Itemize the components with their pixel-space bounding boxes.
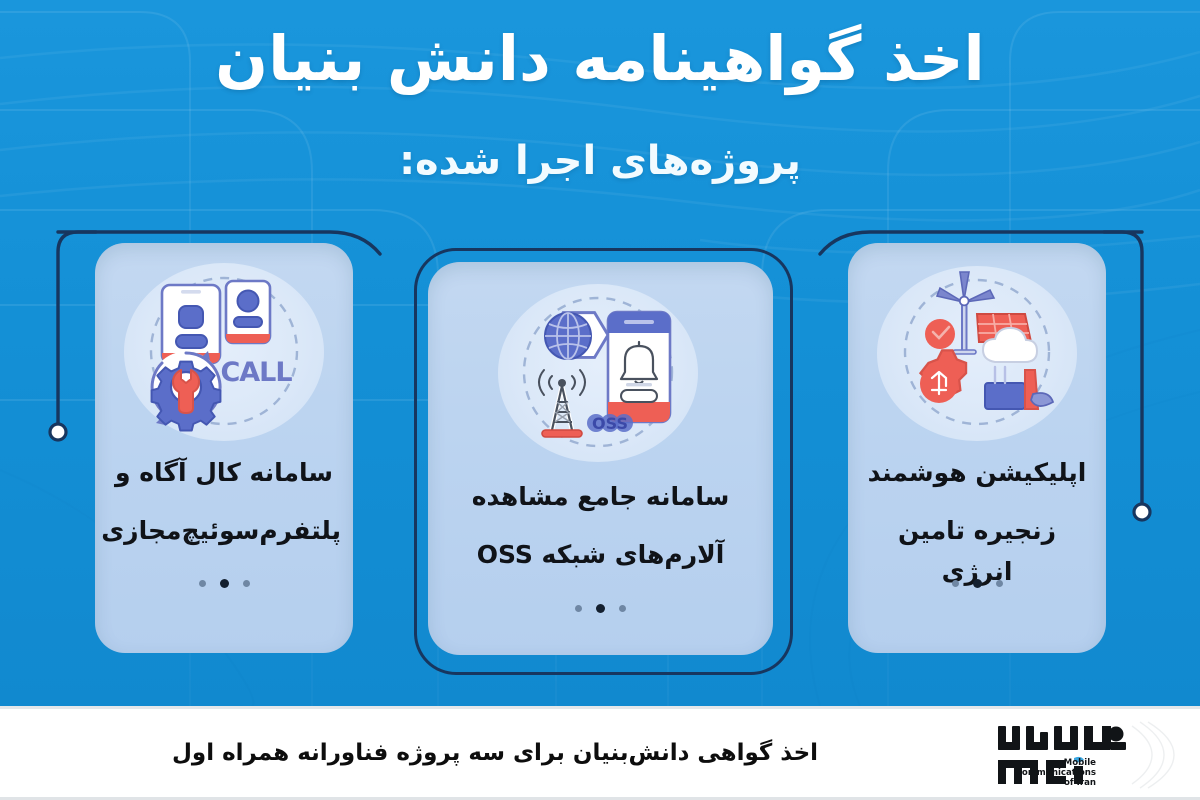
- footer-bar: اخذ گواهی دانش‌بنیان برای سه پروژه فناور…: [0, 706, 1200, 800]
- page-subtitle: پروژه‌های اجرا شده:: [0, 138, 1200, 184]
- cell-tower-icon: [539, 370, 585, 437]
- dot-1: [619, 605, 626, 612]
- network-alarm-shield-tower-icon: OSS: [498, 284, 698, 462]
- oss-badge-text: OSS: [587, 414, 633, 433]
- dot-2-active: [973, 579, 982, 588]
- contact-card-large-icon: [162, 285, 220, 363]
- svg-text:OSS: OSS: [592, 414, 628, 433]
- dot-1: [243, 580, 250, 587]
- card-energy-dots: [848, 573, 1106, 592]
- card-oss-label-line1: سامانه جامع مشاهده: [428, 477, 773, 518]
- footer-caption: اخذ گواهی دانش‌بنیان برای سه پروژه فناور…: [90, 740, 900, 766]
- call-badge-text: CALL: [220, 357, 292, 388]
- mci-logo-persian-wordmark: [998, 726, 1126, 750]
- renewable-energy-supply-chain-icon: [877, 266, 1077, 441]
- infographic-canvas: اخذ گواهینامه دانش بنیان پروژه‌های اجرا …: [0, 0, 1200, 800]
- contact-card-small-icon: [226, 281, 270, 343]
- factory-cloud-leaf-icon: [983, 328, 1053, 409]
- svg-text:of Iran: of Iran: [1064, 778, 1096, 788]
- mci-logo: Mobile Communications of Iran: [990, 720, 1178, 790]
- card-call-label-line2: پلتفرم‌سوئیچ‌مجازی: [95, 511, 353, 552]
- dot-3: [199, 580, 206, 587]
- dot-3: [952, 580, 959, 587]
- card-oss[interactable]: OSS سامانه جامع مشاهده آلارم‌های شبکه OS…: [428, 262, 773, 655]
- dot-2-active: [596, 604, 605, 613]
- card-call-aware[interactable]: CALL سامانه کال آگاه و پلت: [95, 243, 353, 653]
- card-call-dots: [95, 573, 353, 592]
- shield-globe-icon: [545, 313, 608, 359]
- mci-logo-mark: Mobile Communications of Iran: [990, 720, 1178, 790]
- page-title: اخذ گواهینامه دانش بنیان: [0, 24, 1200, 93]
- card-oss-dots: [428, 598, 773, 617]
- footer-top-divider: [0, 706, 1200, 709]
- dot-3: [575, 605, 582, 612]
- svg-text:Mobile: Mobile: [1064, 758, 1096, 768]
- recycle-gear-icon: [920, 350, 966, 403]
- gear-wrench-icon: [152, 351, 221, 430]
- dot-1: [996, 580, 1003, 587]
- dot-2-active: [220, 579, 229, 588]
- svg-text:Communications: Communications: [1016, 768, 1096, 778]
- card-energy-label-line1: اپلیکیشن هوشمند: [848, 453, 1106, 494]
- phone-alarm-icon: [608, 312, 670, 422]
- card-energy-app[interactable]: اپلیکیشن هوشمند زنجیره تامین انرژی: [848, 243, 1106, 653]
- call-icon-halo: CALL: [124, 263, 324, 441]
- call-center-gear-icon: CALL: [124, 263, 324, 441]
- leaf-icon: [1031, 393, 1053, 406]
- energy-icon-halo: [877, 266, 1077, 441]
- card-oss-label-line2: آلارم‌های شبکه OSS: [428, 535, 773, 576]
- card-call-label-line1: سامانه کال آگاه و: [95, 453, 353, 494]
- oss-icon-halo: OSS: [498, 284, 698, 462]
- sun-icon: [925, 319, 955, 349]
